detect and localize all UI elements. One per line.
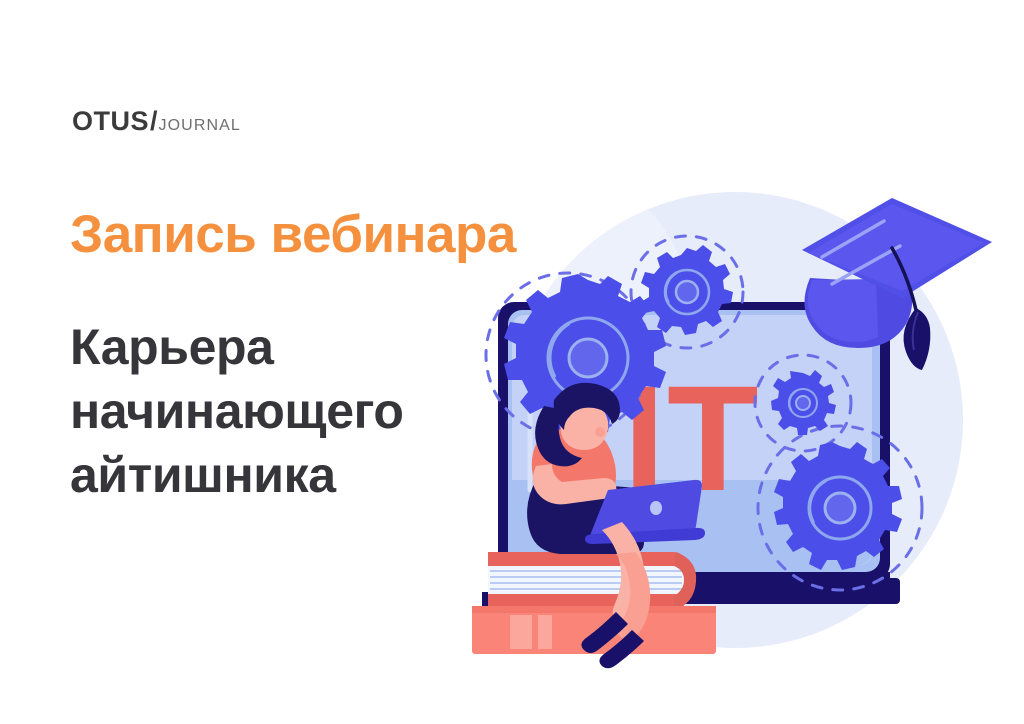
poster-canvas: OTUS/JOURNAL Запись вебинара Карьера нач… (0, 0, 1024, 724)
brand-separator: / (150, 108, 158, 135)
brand-name: OTUS (72, 108, 149, 135)
brand-logo: OTUS/JOURNAL (72, 108, 241, 135)
brand-suffix: JOURNAL (159, 118, 241, 134)
hero-illustration: IT (440, 160, 1000, 680)
